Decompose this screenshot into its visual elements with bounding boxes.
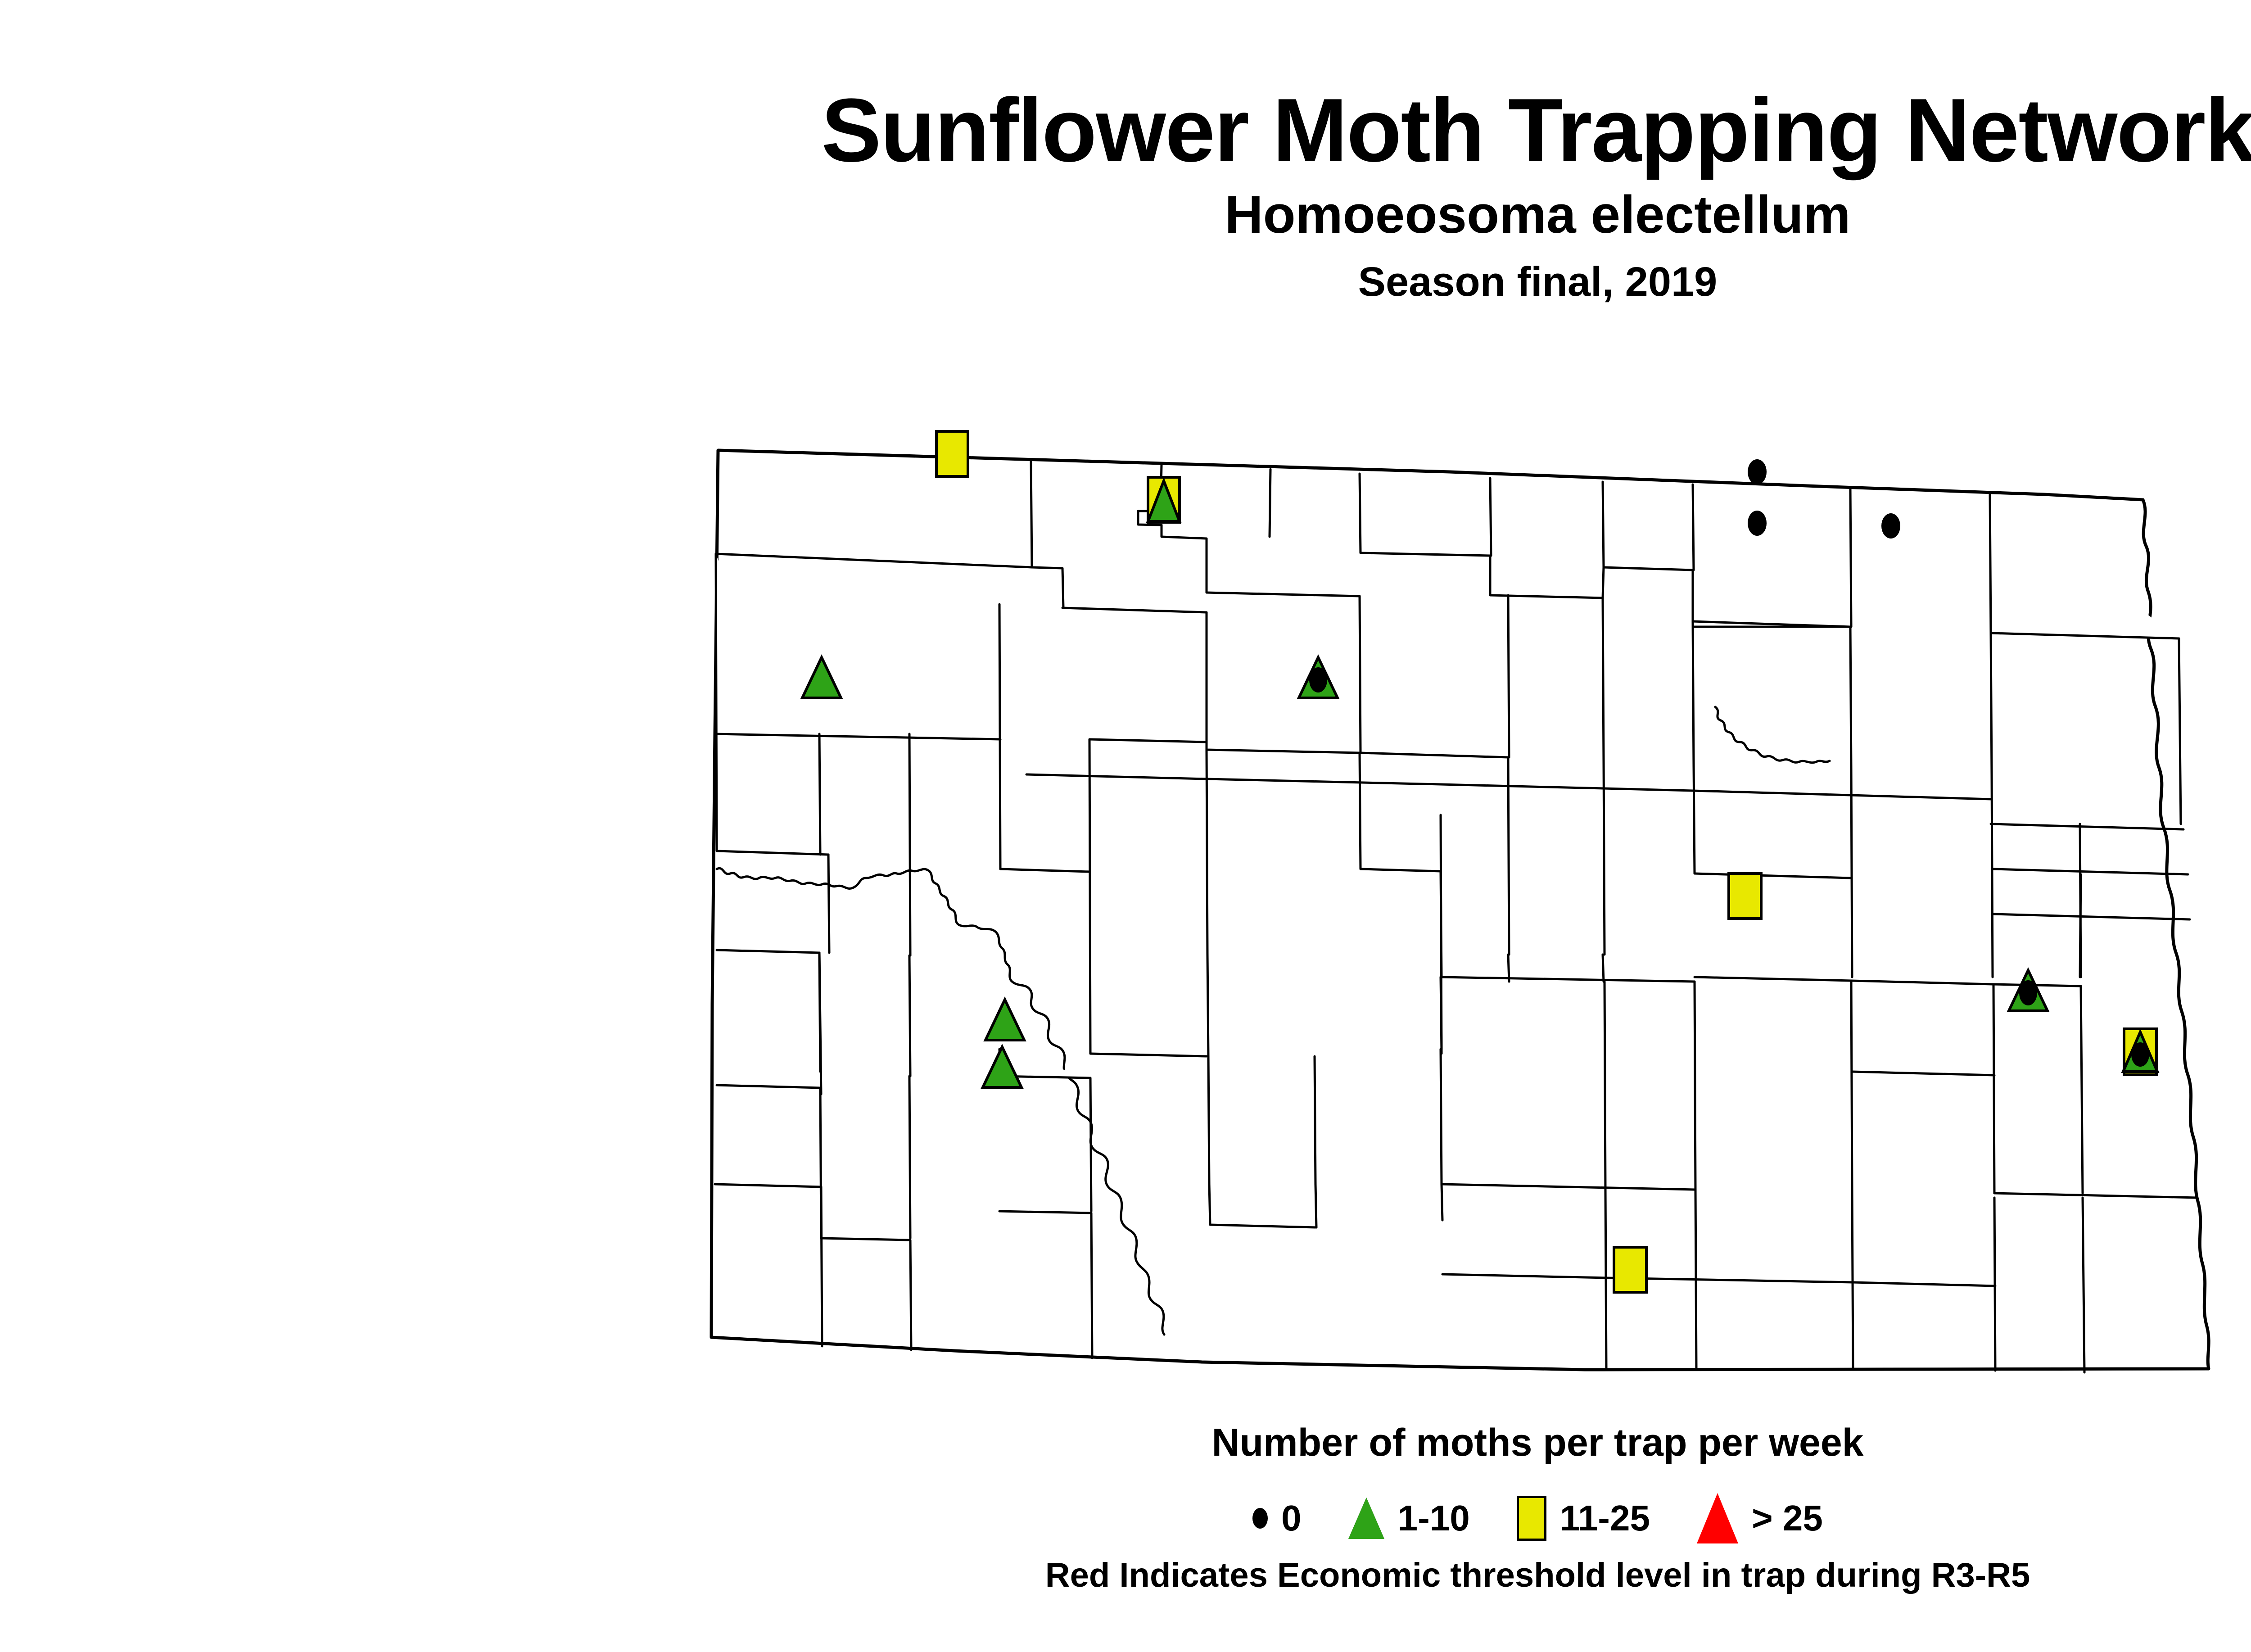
county-line-r3l <box>1992 774 1993 977</box>
county-line-r6k <box>1852 1190 1853 1370</box>
marker-site-nw-divide <box>936 431 968 476</box>
county-line-r5g <box>1208 1056 1209 1184</box>
season-label: Season final, 2019 <box>0 261 2251 303</box>
red-triangle-icon <box>1697 1493 1738 1543</box>
poster-page: Sunflower Moth Trapping Network Homoeoso… <box>0 0 2251 1652</box>
legend-label-3: > 25 <box>1752 1500 1823 1536</box>
county-line-r4g <box>1207 955 1208 1056</box>
green-triangle-icon <box>1348 1498 1384 1539</box>
county-line-r4e <box>1441 871 1442 977</box>
county-boundaries <box>711 450 2209 1372</box>
yellow-square-icon <box>1517 1496 1546 1541</box>
county-line-r3c <box>1089 739 1090 1054</box>
marker-site-ne-towner-2 <box>1748 511 1767 536</box>
marker-site-ne-cavalier <box>1881 513 1900 539</box>
county-line-n5 <box>1490 478 1491 556</box>
county-line-r3k <box>1851 770 1852 977</box>
county-line-r5m <box>1851 981 1852 1190</box>
county-line-w2 <box>909 734 910 955</box>
county-line-w1 <box>819 734 820 855</box>
county-line-r5f <box>1090 1078 1091 1211</box>
county-line-n7 <box>1693 484 1694 570</box>
map-svg <box>684 419 2251 1396</box>
page-title: Sunflower Moth Trapping Network <box>0 86 2251 176</box>
state-outline <box>711 450 2209 1370</box>
title-block: Sunflower Moth Trapping Network Homoeoso… <box>0 86 2251 303</box>
county-line-r2a <box>999 604 1000 869</box>
county-line-r6g <box>1315 1184 1316 1227</box>
county-line-r5c <box>909 1076 910 1238</box>
legend-heading: Number of moths per trap per week <box>0 1421 2251 1465</box>
county-line-r2g <box>1850 627 1851 770</box>
legend-label-2: 11-25 <box>1560 1500 1650 1536</box>
north-dakota-county-map <box>684 419 2251 1396</box>
county-line-r3i <box>1604 761 1605 955</box>
county-line-r4h <box>1441 977 1442 1049</box>
county-line-r2h <box>1991 633 1992 774</box>
marker-site-ne-towner-1 <box>1748 459 1767 484</box>
county-line-r5k <box>1605 982 1605 1190</box>
county-line-r6e <box>1091 1213 1092 1358</box>
county-line-r4p <box>1603 955 1604 982</box>
legend-item-2: 11-25 <box>1517 1496 1650 1541</box>
marker-site-se-cass <box>2123 1029 2157 1075</box>
county-line-r6b <box>821 1187 822 1346</box>
county-line-r4d <box>909 955 910 1076</box>
legend-item-0: 0 <box>1252 1500 1302 1536</box>
county-line-r4n <box>2080 874 2081 977</box>
county-line-r2d <box>1508 595 1509 757</box>
county-line-r2f <box>1693 621 1694 765</box>
county-line-r3m <box>2179 638 2181 824</box>
legend-item-3: > 25 <box>1697 1493 1823 1543</box>
legend-item-1: 1-10 <box>1348 1498 1470 1539</box>
legend-row: 0 1-10 11-25 > 25 <box>0 1493 2251 1543</box>
county-line-r5l <box>1695 982 1695 1190</box>
county-line-n3 <box>1270 469 1270 537</box>
county-line-r2e <box>1603 598 1604 761</box>
county-line-r5h <box>1315 1056 1315 1184</box>
legend-label-0: 0 <box>1281 1500 1302 1536</box>
marker-site-c-kidder <box>1729 874 1761 919</box>
county-line-r4c <box>828 855 829 953</box>
footnote-text: Red Indicates Economic threshold level i… <box>0 1556 2251 1595</box>
black-dot-icon <box>1252 1508 1268 1529</box>
county-line-r4q <box>1508 955 1509 982</box>
county-line-r3e <box>1207 750 1207 955</box>
county-line-r5i <box>1441 1049 1442 1184</box>
footnote: Red Indicates Economic threshold level i… <box>0 1556 2251 1595</box>
county-line-r6c <box>910 1240 911 1350</box>
county-line-r5o <box>1993 984 1994 1193</box>
marker-site-s-dickey <box>1614 1247 1646 1292</box>
species-subtitle: Homoeosoma electellum <box>0 188 2251 241</box>
legend-label-1: 1-10 <box>1398 1500 1470 1536</box>
county-line-r6h <box>1442 1184 1442 1220</box>
legend: Number of moths per trap per week 0 1-10… <box>0 1421 2251 1543</box>
marker-site-n-bottineau <box>1148 477 1180 522</box>
county-line-r6l <box>1994 1198 1995 1371</box>
county-line-n8 <box>1850 489 1851 627</box>
